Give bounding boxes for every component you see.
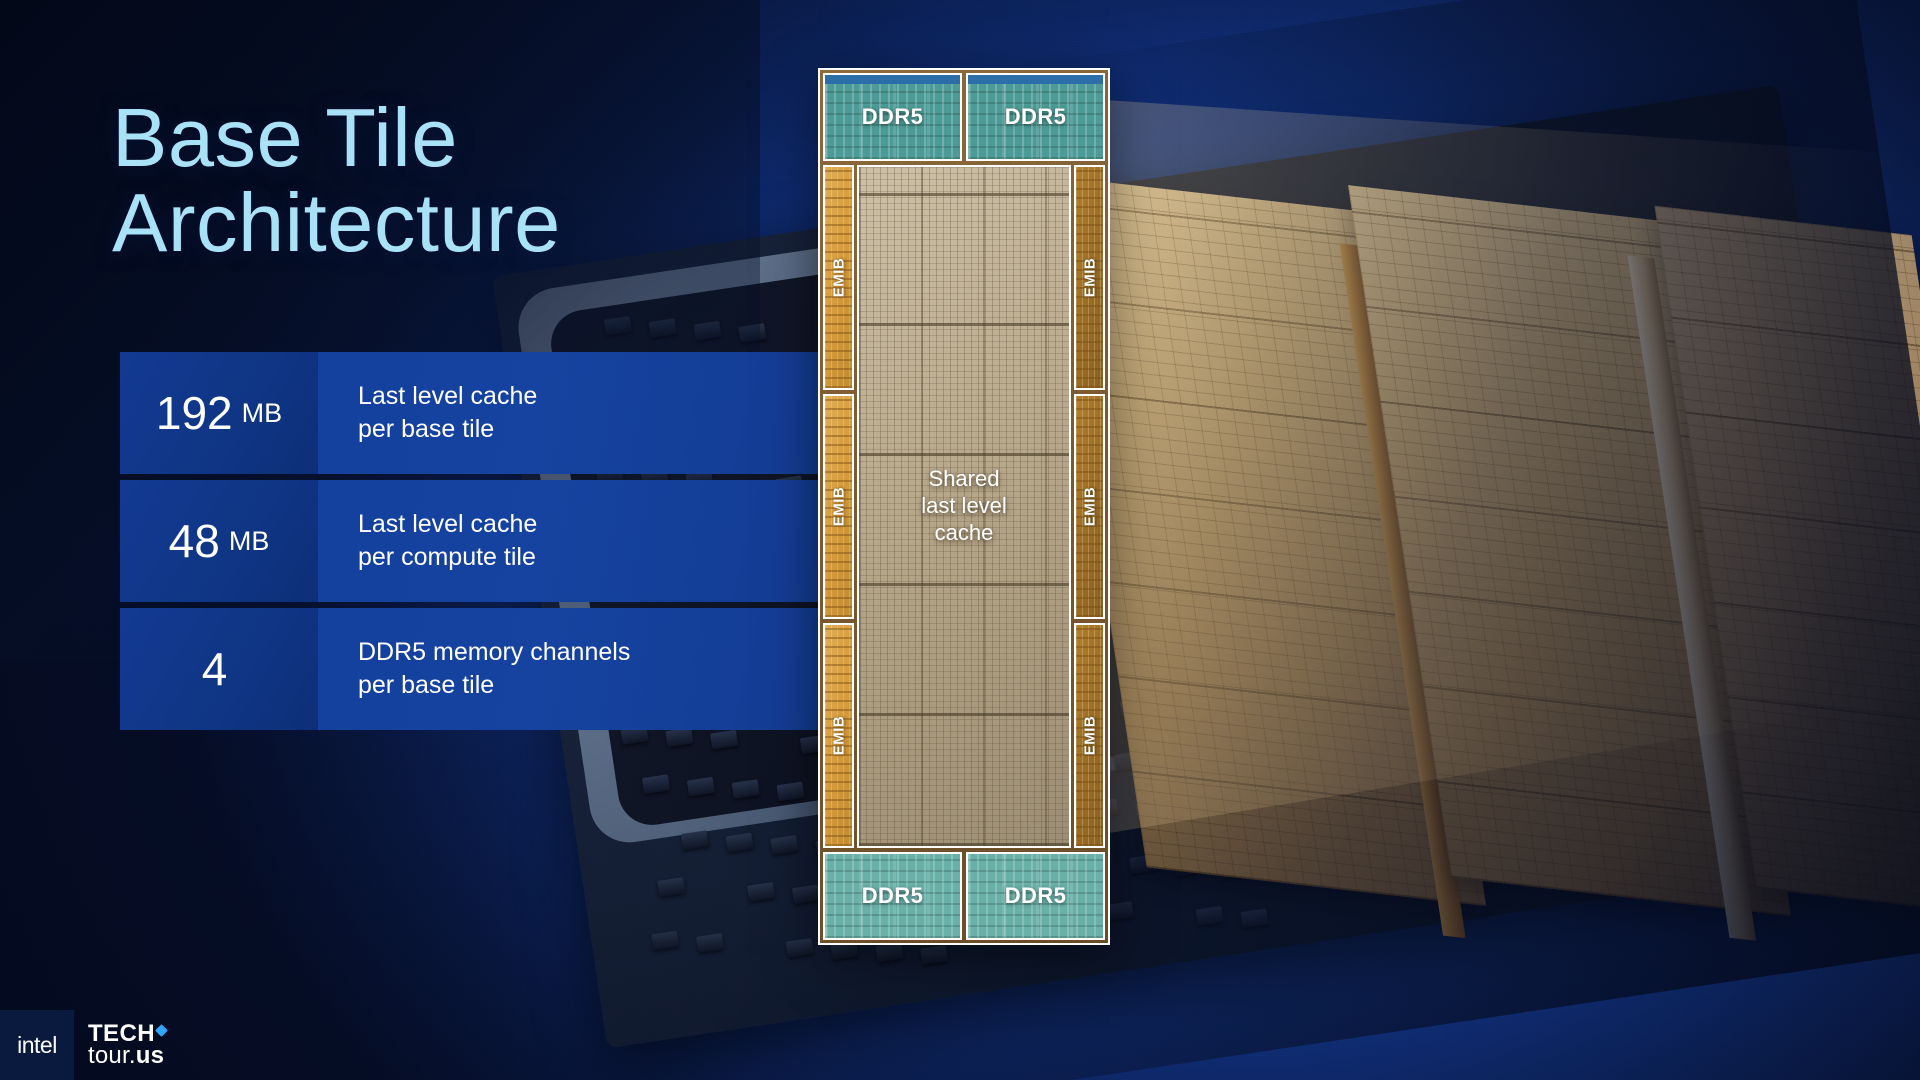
spec-label-cell: Last level cache per base tile bbox=[318, 352, 820, 474]
ddr5-label: DDR5 bbox=[1005, 104, 1067, 130]
intel-logo: intel bbox=[0, 1010, 74, 1080]
ddr5-label: DDR5 bbox=[1005, 883, 1067, 909]
title-line-2: Architecture bbox=[112, 180, 561, 265]
spec-label-cell: DDR5 memory channels per base tile bbox=[318, 608, 820, 730]
tech-tour-logo: TECH tour.us bbox=[88, 1022, 164, 1068]
spec-value: 4 bbox=[202, 642, 228, 696]
emib-label: EMIB bbox=[1081, 258, 1098, 298]
tech-tour-line-2-a: tour. bbox=[88, 1042, 136, 1069]
tech-tour-line-2-b: us bbox=[136, 1042, 164, 1069]
cache-label: Shared last level cache bbox=[921, 466, 1007, 546]
cache-label-line-2: last level bbox=[921, 493, 1007, 520]
floorplan-middle: EMIB EMIB EMIB Shared last level cache bbox=[823, 161, 1105, 852]
emib-label: EMIB bbox=[1081, 716, 1098, 756]
spec-value: 192 bbox=[156, 386, 233, 440]
emib-block: EMIB bbox=[823, 165, 854, 390]
tech-tour-line-2: tour.us bbox=[88, 1044, 164, 1068]
emib-column-right: EMIB EMIB EMIB bbox=[1074, 165, 1105, 848]
ddr5-phy-strip bbox=[825, 75, 960, 84]
spec-label-line-1: DDR5 memory channels bbox=[358, 638, 630, 666]
emib-block: EMIB bbox=[1074, 165, 1105, 390]
ddr5-tile: DDR5 bbox=[966, 73, 1105, 161]
ddr5-label: DDR5 bbox=[862, 104, 924, 130]
spec-label-cell: Last level cache per compute tile bbox=[318, 480, 820, 602]
spec-value-cell: 192 MB bbox=[120, 352, 318, 474]
page-title: Base Tile Architecture bbox=[112, 95, 561, 266]
ddr5-phy-strip bbox=[968, 75, 1103, 84]
cache-label-line-3: cache bbox=[921, 520, 1007, 547]
ddr-row-top: DDR5 DDR5 bbox=[823, 73, 1105, 161]
emib-block: EMIB bbox=[823, 394, 854, 619]
intel-logo-text: intel bbox=[17, 1032, 57, 1059]
emib-block: EMIB bbox=[1074, 394, 1105, 619]
spec-unit: MB bbox=[242, 398, 283, 429]
spec-label-line-2: per base tile bbox=[358, 413, 537, 447]
spec-row: 192 MB Last level cache per base tile bbox=[120, 352, 820, 474]
emib-label: EMIB bbox=[830, 716, 847, 756]
emib-label: EMIB bbox=[830, 258, 847, 298]
emib-column-left: EMIB EMIB EMIB bbox=[823, 165, 854, 848]
ddr5-label: DDR5 bbox=[862, 883, 924, 909]
spec-label-line-1: Last level cache bbox=[358, 382, 537, 410]
ddr5-tile: DDR5 bbox=[823, 852, 962, 940]
spec-label-line-1: Last level cache bbox=[358, 510, 537, 538]
emib-label: EMIB bbox=[1081, 487, 1098, 527]
spec-row: 48 MB Last level cache per compute tile bbox=[120, 480, 820, 602]
emib-block: EMIB bbox=[1074, 623, 1105, 848]
spec-list: 192 MB Last level cache per base tile 48… bbox=[120, 352, 820, 730]
base-tile-floorplan: DDR5 DDR5 EMIB EMIB EMIB bbox=[818, 68, 1110, 945]
slide-stage: Base Tile Architecture 192 MB Last level… bbox=[0, 0, 1920, 1080]
ddr-row-bottom: DDR5 DDR5 bbox=[823, 852, 1105, 940]
title-line-1: Base Tile bbox=[112, 95, 561, 180]
ddr5-tile: DDR5 bbox=[823, 73, 962, 161]
emib-label: EMIB bbox=[830, 487, 847, 527]
emib-block: EMIB bbox=[823, 623, 854, 848]
footer-logos: intel TECH tour.us bbox=[0, 1010, 230, 1080]
spec-label-line-2: per compute tile bbox=[358, 541, 537, 575]
cache-label-line-1: Shared bbox=[921, 466, 1007, 493]
spec-unit: MB bbox=[229, 526, 270, 557]
shared-last-level-cache-block: Shared last level cache bbox=[857, 165, 1071, 848]
spec-value-cell: 48 MB bbox=[120, 480, 318, 602]
spec-row: 4 DDR5 memory channels per base tile bbox=[120, 608, 820, 730]
spec-value: 48 bbox=[169, 514, 220, 568]
spec-value-cell: 4 bbox=[120, 608, 318, 730]
ddr5-tile: DDR5 bbox=[966, 852, 1105, 940]
spec-label-line-2: per base tile bbox=[358, 669, 630, 703]
